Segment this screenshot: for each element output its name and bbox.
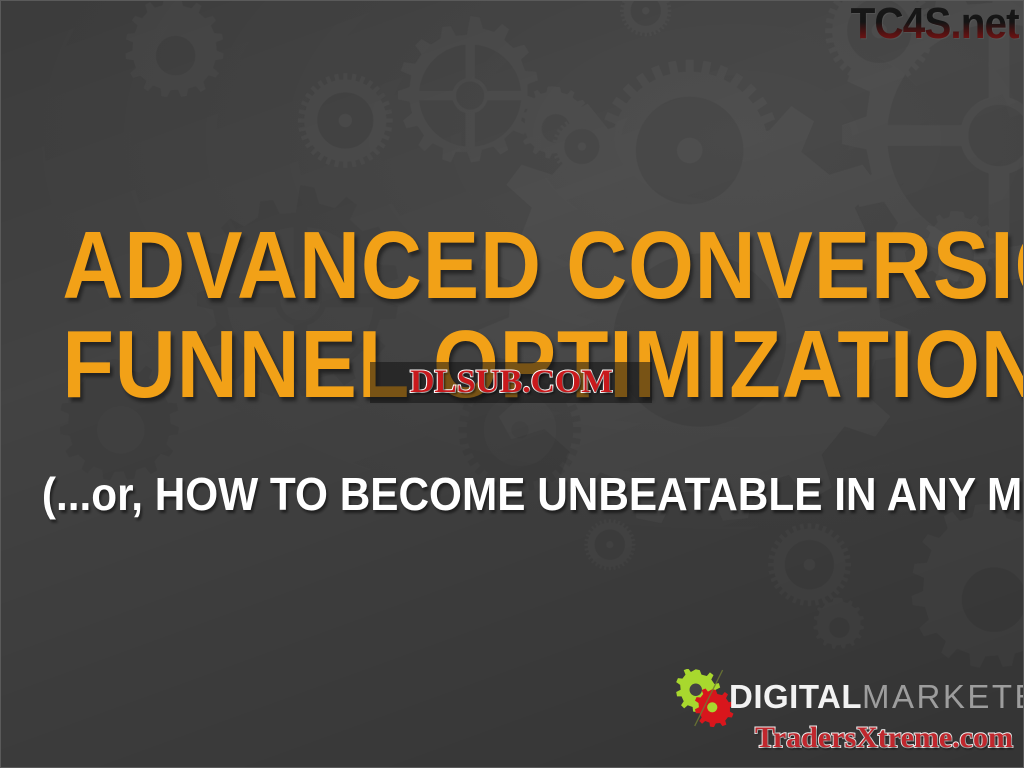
subtitle: (...or, HOW TO BECOME UNBEATABLE IN ANY …	[42, 471, 982, 517]
brand-name-thin: MARKETER	[862, 678, 1024, 715]
watermark-center: DLSUB.COM	[370, 362, 652, 403]
presentation-slide: ADVANCED CONVERSION FUNNEL OPTIMIZATION …	[0, 0, 1024, 768]
brand-wordmark: DIGITALMARKETER	[729, 675, 1024, 719]
watermark-center-text: DLSUB.COM	[410, 364, 613, 401]
watermark-bottom-right: TradersXtreme.com	[755, 721, 1013, 755]
watermark-top-right: TC4S.net	[851, 0, 1019, 49]
brand-name-bold: DIGITAL	[729, 678, 862, 715]
gears-icon	[673, 669, 735, 727]
title-line-1: ADVANCED CONVERSION	[62, 219, 961, 312]
brand-logo: DIGITALMARKETER	[673, 669, 1013, 727]
